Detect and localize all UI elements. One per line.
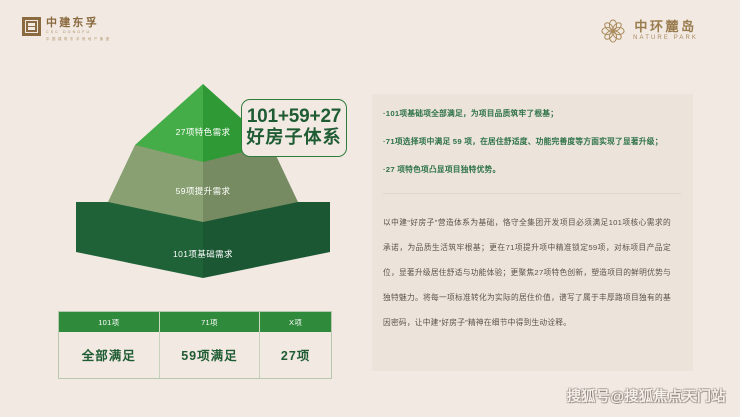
seal-square-icon	[22, 17, 41, 36]
bullet-list: ·101项基础项全部满足，为项目品质筑牢了根基； ·71项选择项中满足 59 项…	[372, 94, 693, 174]
logo-left-tagline: 中国建筑东孚房地产集团	[46, 36, 112, 43]
badge-formula: 101+59+27	[246, 106, 342, 127]
table-cell-1: 全部满足	[59, 332, 160, 378]
bullet-item: ·27 项特色项凸显项目独特优势。	[383, 165, 678, 174]
logo-right-text: 中环麓岛 NATURE PARK	[633, 19, 698, 43]
description-paragraph: 以中建“好房子”营造体系为基础，恪守全集团开发项目必须满足101项核心需求的承诺…	[372, 194, 693, 335]
logo-left-name-en: CSC DONGFU	[46, 29, 112, 35]
logo-brand-left: 中建东孚 CSC DONGFU 中国建筑东孚房地产集团	[22, 17, 112, 43]
pyramid-label-middle: 59项提升需求	[176, 185, 231, 197]
clover-flower-icon	[600, 18, 626, 44]
table-header-row: 101项 71项 X项	[59, 312, 331, 332]
description-panel: ·101项基础项全部满足，为项目品质筑牢了根基； ·71项选择项中满足 59 项…	[372, 94, 693, 371]
slide-canvas: 中建东孚 CSC DONGFU 中国建筑东孚房地产集团 中环麓岛	[0, 0, 740, 417]
table-header-cell-2: 71项	[160, 312, 261, 332]
badge-title: 好房子体系	[246, 127, 342, 148]
summary-table: 101项 71项 X项 全部满足 59项满足 27项	[58, 311, 332, 379]
logo-brand-right: 中环麓岛 NATURE PARK	[600, 18, 698, 44]
table-cell-2: 59项满足	[160, 332, 261, 378]
pyramid-label-top: 27项特色需求	[176, 126, 231, 138]
logo-right-name-en: NATURE PARK	[633, 34, 698, 43]
bullet-item: ·71项选择项中满足 59 项，在居住舒适度、功能完善度等方面实现了显著升级；	[383, 137, 678, 146]
logo-left-name-cn: 中建东孚	[46, 17, 112, 29]
bullet-item: ·101项基础项全部满足，为项目品质筑牢了根基；	[383, 109, 678, 118]
table-row: 全部满足 59项满足 27项	[59, 332, 331, 378]
table-header-cell-3: X项	[260, 312, 331, 332]
logo-right-name-cn: 中环麓岛	[634, 19, 696, 34]
pyramid-label-base: 101项基础需求	[173, 248, 233, 260]
watermark-text: 搜狐号@搜狐焦点天门站	[567, 386, 726, 406]
table-cell-3: 27项	[260, 332, 331, 378]
system-badge: 101+59+27 好房子体系	[241, 99, 347, 157]
logo-left-text: 中建东孚 CSC DONGFU 中国建筑东孚房地产集团	[46, 17, 112, 43]
table-header-cell-1: 101项	[59, 312, 160, 332]
